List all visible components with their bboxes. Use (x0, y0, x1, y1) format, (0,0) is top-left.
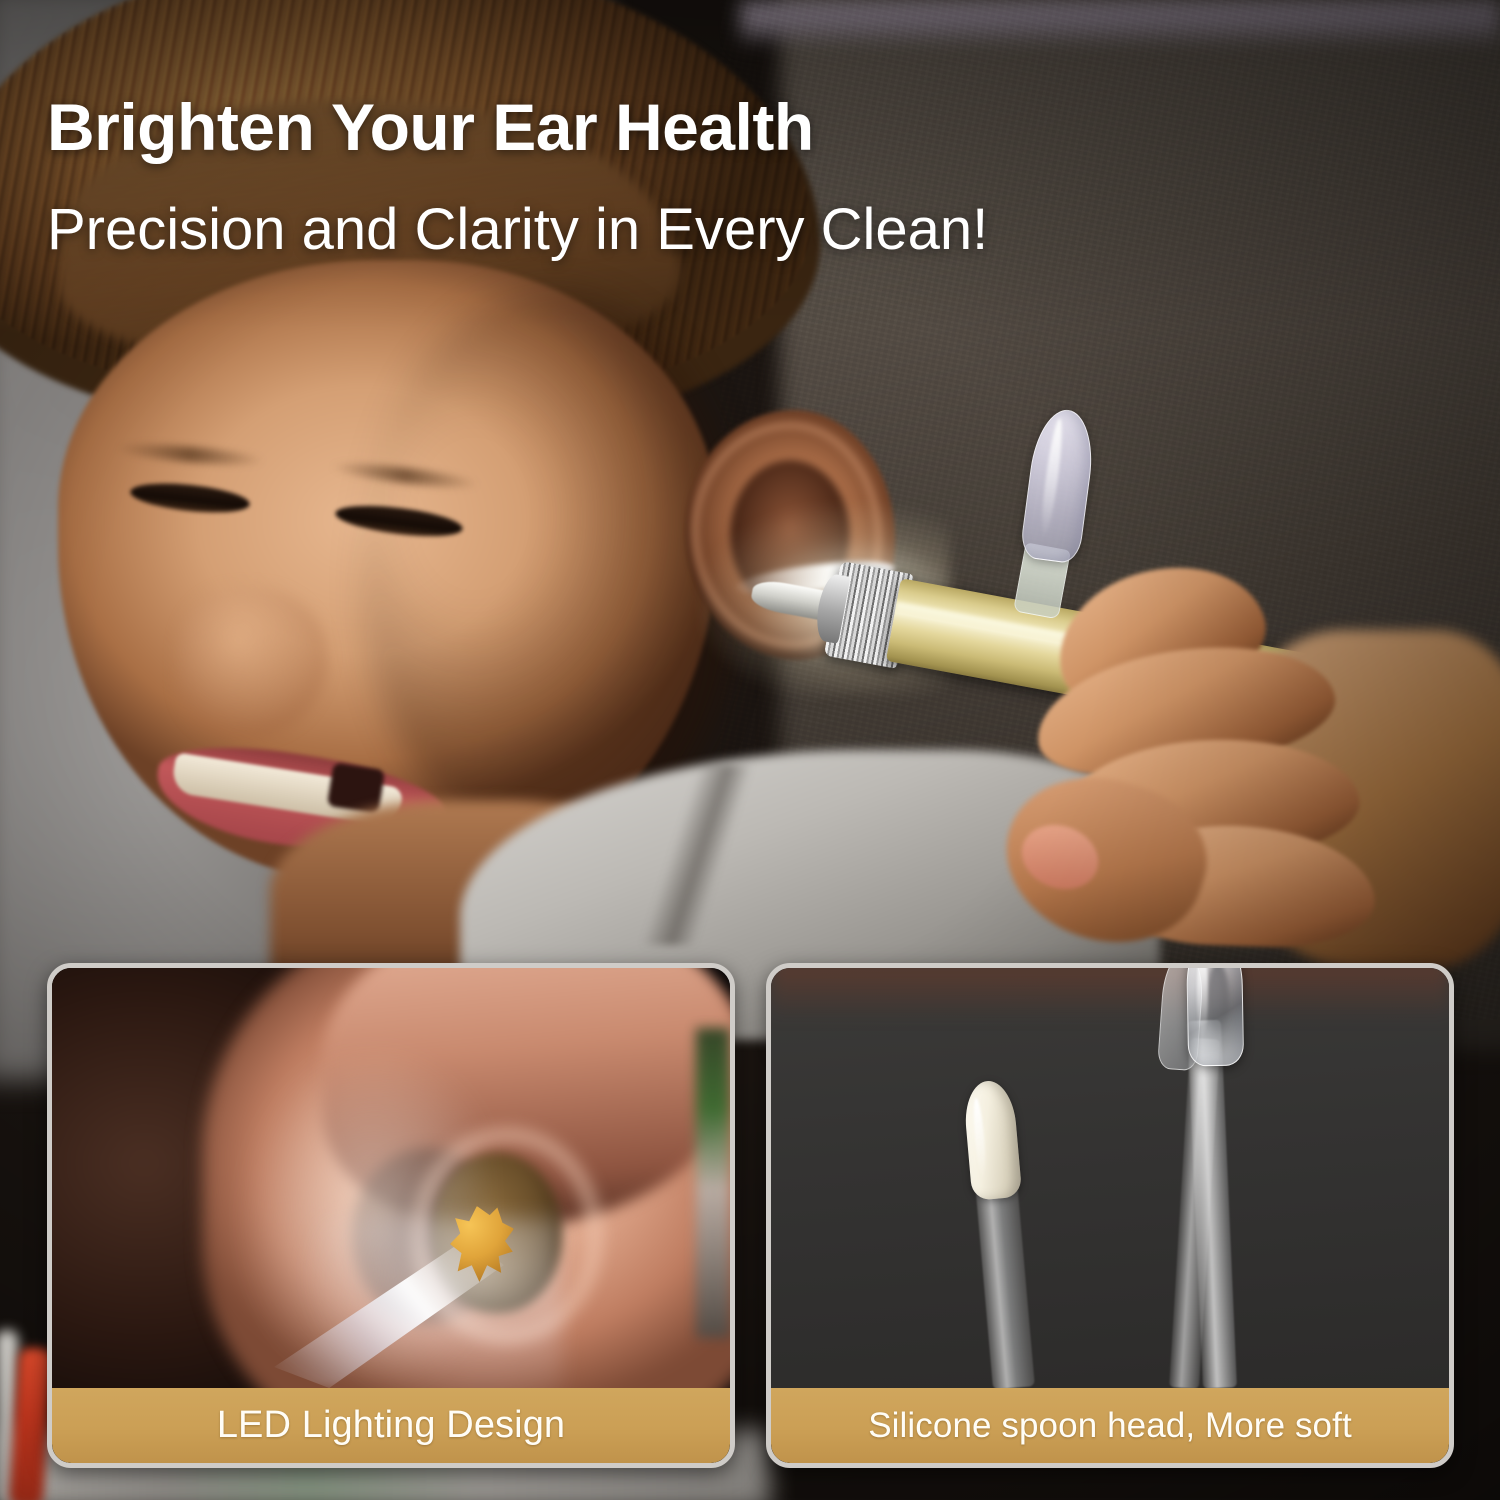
silicone-panel-caption-text: Silicone spoon head, More soft (868, 1406, 1352, 1446)
small-spoon-head (962, 1079, 1022, 1201)
silicone-panel-caption-bar: Silicone spoon head, More soft (771, 1388, 1449, 1463)
led-panel-caption-bar: LED Lighting Design (52, 1388, 730, 1463)
feature-panel-silicone: Silicone spoon head, More soft (766, 963, 1454, 1468)
product-marketing-image: Brighten Your Ear Health Precision and C… (0, 0, 1500, 1500)
silicone-spoon-large (1129, 968, 1279, 1388)
page-title: Brighten Your Ear Health (47, 94, 814, 160)
led-panel-caption-text: LED Lighting Design (217, 1404, 565, 1447)
macro-side-color-strip (696, 1028, 730, 1338)
feature-panel-led: LED Lighting Design (47, 963, 735, 1468)
silicone-panel-background (771, 968, 1449, 1388)
silicone-panel-image (771, 968, 1449, 1388)
page-subtitle: Precision and Clarity in Every Clean! (47, 200, 988, 261)
ear-canal-macro (52, 968, 730, 1388)
led-panel-image (52, 968, 730, 1388)
silicone-spoon-small (939, 1065, 1059, 1388)
panel-top-glow (771, 968, 1449, 1020)
